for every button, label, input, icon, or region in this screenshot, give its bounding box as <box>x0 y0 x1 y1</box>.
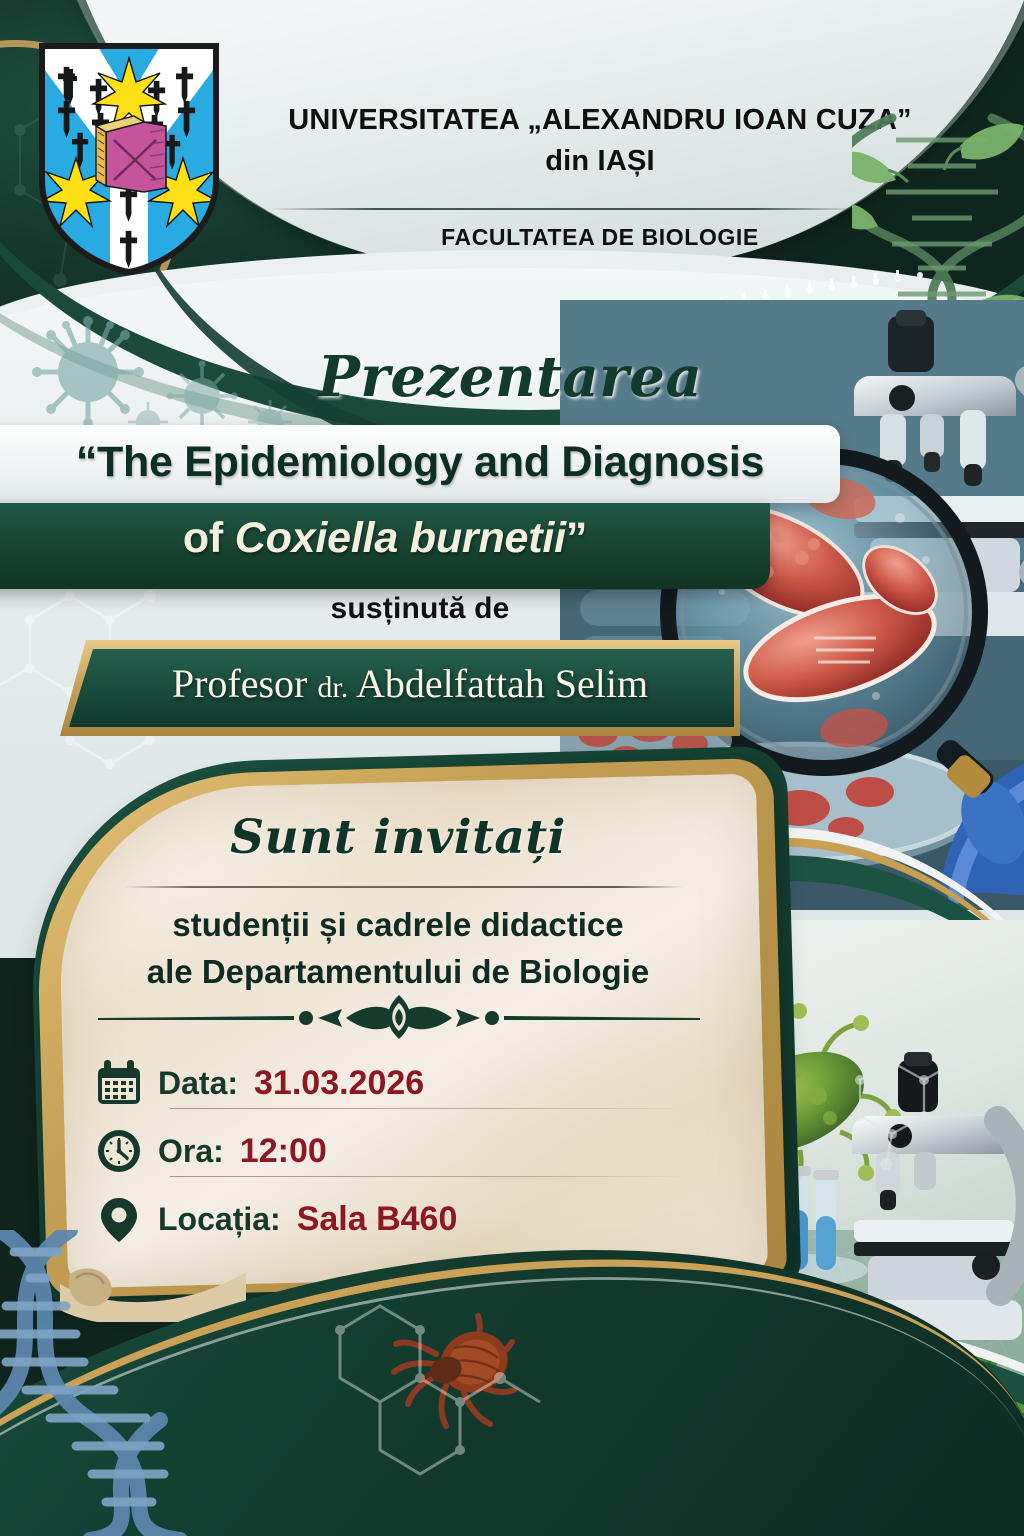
date-label: Data: <box>158 1065 238 1102</box>
poster-root: UNIVERSITATEA „ALEXANDRU IOAN CUZA” din … <box>0 0 1024 1536</box>
speaker-title: dr. <box>317 671 348 704</box>
presentation-title-line2: of Coxiella burnetii” <box>0 514 770 563</box>
speaker-banner: Profesor dr. Abdelfattah Selim <box>60 640 740 736</box>
detail-rule-2 <box>170 1176 690 1177</box>
gloved-hand-icon <box>940 748 1024 900</box>
title-species: Coxiella burnetii <box>235 514 566 562</box>
presentation-script-heading: Prezentarea <box>200 344 820 410</box>
speaker-name-text: Profesor dr. Abdelfattah Selim <box>100 660 720 707</box>
hexagon-pattern-icon <box>300 1290 580 1490</box>
dna-helix-icon <box>852 108 1024 368</box>
audience-line-1: studenții și cadrele didactice <box>88 902 708 949</box>
invitation-audience: studenții și cadrele didactice ale Depar… <box>88 902 708 996</box>
time-label: Ora: <box>158 1133 224 1170</box>
magnifying-glass-icon <box>668 456 998 801</box>
title-prefix: of <box>183 514 235 562</box>
leaf-icon <box>888 1352 1024 1465</box>
title-suffix: ” <box>566 514 587 562</box>
book-icon <box>96 116 166 192</box>
dna-helix-icon <box>0 1230 260 1536</box>
dotted-strand-icon <box>690 265 940 325</box>
detail-row-date: Data: 31.03.2026 <box>96 1052 696 1114</box>
location-value: Sala B460 <box>297 1200 458 1239</box>
calendar-icon <box>96 1060 142 1106</box>
time-value: 12:00 <box>240 1132 327 1171</box>
invitation-content: Sunt invitați studenții și cadrele didac… <box>78 790 748 1270</box>
petri-dish-icon <box>560 1304 798 1432</box>
speaker-name: Abdelfattah Selim <box>348 661 648 706</box>
ornamental-divider-icon <box>94 995 704 1039</box>
detail-row-time: Ora: 12:00 <box>96 1120 696 1182</box>
detail-rule-1 <box>170 1108 690 1109</box>
presentation-title-line1: “The Epidemiology and Diagnosis <box>0 438 840 487</box>
header-divider <box>268 208 858 210</box>
speaker-prefix: Profesor <box>172 661 318 706</box>
clock-icon <box>96 1128 142 1174</box>
test-tube-icon <box>736 1166 868 1286</box>
coat-of-arms <box>36 40 222 278</box>
invitation-divider-top <box>124 886 684 888</box>
audience-line-2: ale Departamentului de Biologie <box>88 949 708 996</box>
presented-by-label: susținută de <box>80 592 760 626</box>
date-value: 31.03.2026 <box>254 1064 424 1103</box>
invitation-script-heading: Sunt invitați <box>138 810 658 865</box>
crest-icon <box>36 40 222 278</box>
